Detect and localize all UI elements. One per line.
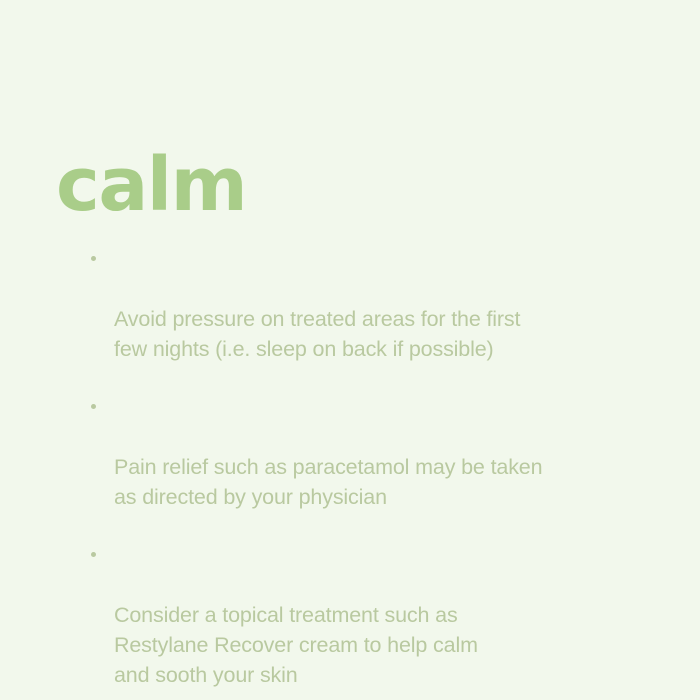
list-item-text: Consider a topical treatment such as Res… — [114, 603, 478, 687]
aftercare-bullet-list: Avoid pressure on treated areas for the … — [88, 244, 648, 690]
bullet-dot-icon — [91, 404, 96, 409]
list-item: Avoid pressure on treated areas for the … — [88, 244, 648, 364]
aftercare-slide: calm Avoid pressure on treated areas for… — [0, 0, 700, 700]
list-item: Consider a topical treatment such as Res… — [88, 540, 648, 690]
page-title: calm — [56, 148, 246, 222]
bullet-dot-icon — [91, 256, 96, 261]
list-item-text: Pain relief such as paracetamol may be t… — [114, 455, 542, 509]
list-item: Pain relief such as paracetamol may be t… — [88, 392, 648, 512]
list-item-text: Avoid pressure on treated areas for the … — [114, 307, 520, 361]
bullet-dot-icon — [91, 552, 96, 557]
